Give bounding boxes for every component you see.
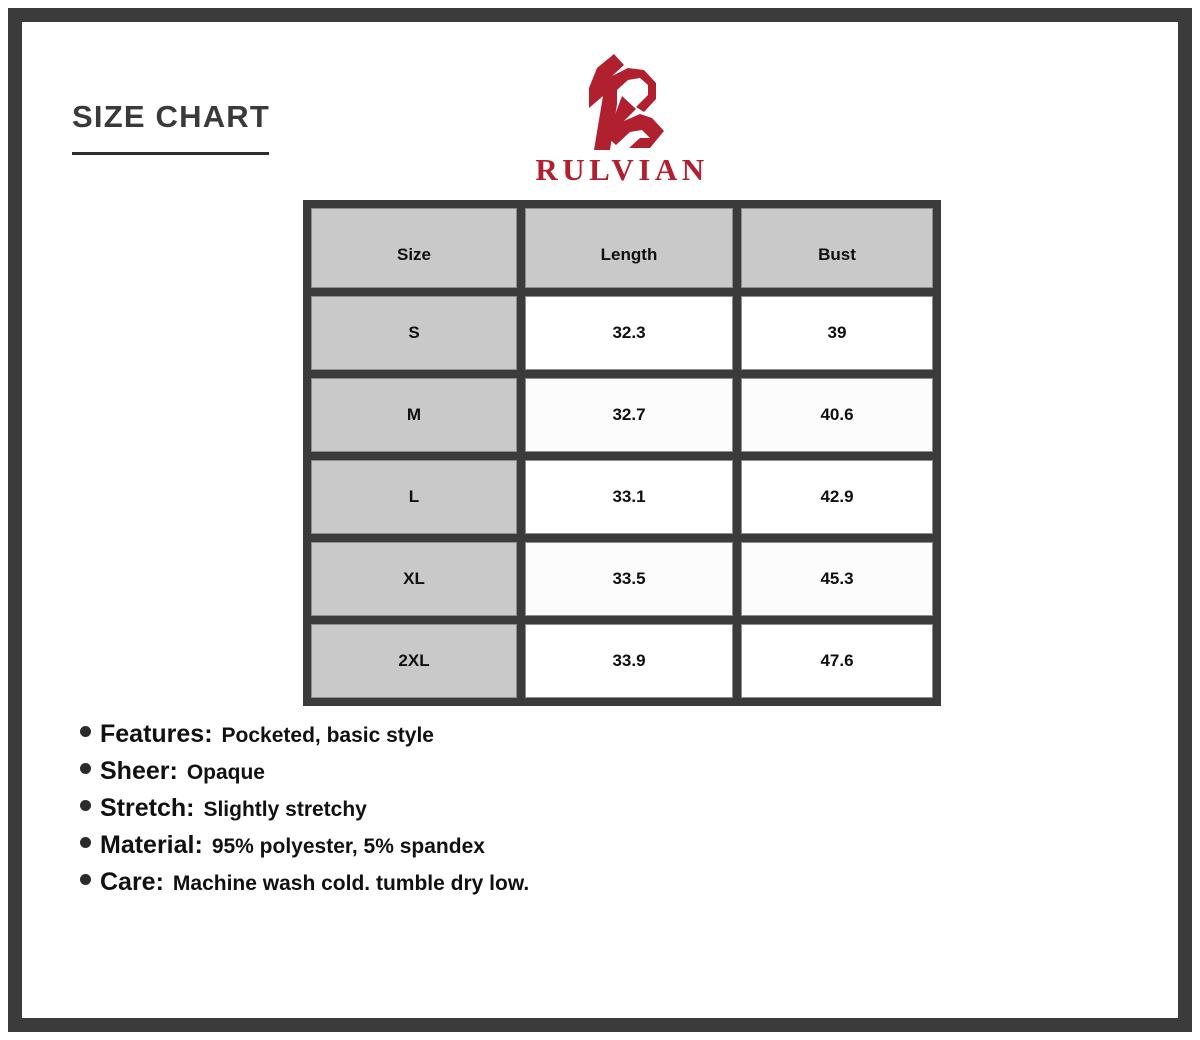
cell-size: 2XL [311,624,517,698]
table-row: M 32.7 40.6 [311,378,933,452]
brand-logo: RULVIAN [492,52,752,185]
detail-value: Pocketed, basic style [222,725,434,746]
column-header-length: Length [525,208,733,288]
detail-label: Sheer: [100,759,178,784]
brand-wordmark: RULVIAN [492,154,752,185]
table-header-row: Size Length Bust [311,208,933,288]
table-row: S 32.3 39 [311,296,933,370]
cell-bust: 45.3 [741,542,933,616]
detail-value: 95% polyester, 5% spandex [212,836,485,857]
cell-bust: 40.6 [741,378,933,452]
cell-length: 32.7 [525,378,733,452]
cell-length: 32.3 [525,296,733,370]
title-block: SIZE CHART [72,100,372,155]
table-row: 2XL 33.9 47.6 [311,624,933,698]
list-item: Material: 95% polyester, 5% spandex [80,833,1080,858]
detail-label: Stretch: [100,796,194,821]
cell-bust: 42.9 [741,460,933,534]
page-border-frame: SIZE CHART RULVIAN [8,8,1192,1032]
bullet-icon [80,874,91,885]
bullet-icon [80,726,91,737]
size-table-header: Size Length Bust [311,208,933,288]
column-header-size: Size [311,208,517,288]
detail-value: Opaque [187,762,265,783]
list-item: Stretch: Slightly stretchy [80,796,1080,821]
size-table-container: Size Length Bust S [303,200,941,706]
cell-bust: 47.6 [741,624,933,698]
bullet-icon [80,837,91,848]
table-row: XL 33.5 45.3 [311,542,933,616]
page-content-area: SIZE CHART RULVIAN [22,22,1178,1018]
detail-value: Machine wash cold. tumble dry low. [173,873,529,894]
cell-length: 33.1 [525,460,733,534]
cell-bust: 39 [741,296,933,370]
detail-value: Slightly stretchy [203,799,366,820]
cell-size: M [311,378,517,452]
cell-size: XL [311,542,517,616]
angular-r-logo-icon [570,52,674,152]
detail-label: Care: [100,870,164,895]
table-row: L 33.1 42.9 [311,460,933,534]
detail-label: Material: [100,833,203,858]
cell-length: 33.5 [525,542,733,616]
list-item: Care: Machine wash cold. tumble dry low. [80,870,1080,895]
product-details-list: Features: Pocketed, basic style Sheer: O… [80,722,1080,907]
bullet-icon [80,800,91,811]
bullet-icon [80,763,91,774]
detail-label: Features: [100,722,213,747]
cell-size: L [311,460,517,534]
list-item: Features: Pocketed, basic style [80,722,1080,747]
size-chart-page: SIZE CHART RULVIAN [0,0,1200,1040]
column-header-bust: Bust [741,208,933,288]
size-table: Size Length Bust S [303,200,941,706]
cell-length: 33.9 [525,624,733,698]
list-item: Sheer: Opaque [80,759,1080,784]
page-title: SIZE CHART [72,100,372,134]
size-table-body: S 32.3 39 M 32.7 40.6 L 33.1 42.9 [311,296,933,698]
title-underline-rule [72,152,269,155]
cell-size: S [311,296,517,370]
